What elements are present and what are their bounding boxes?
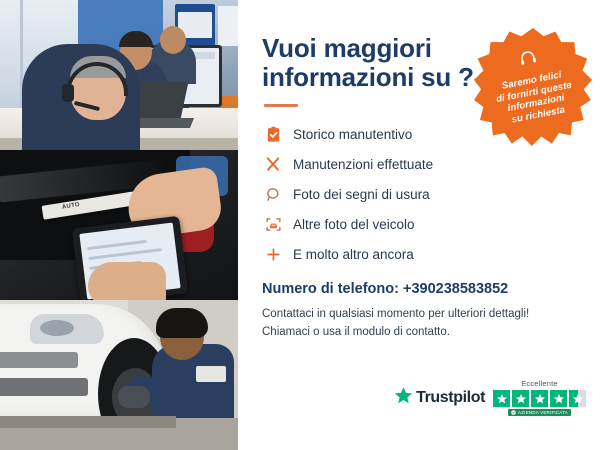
plus-icon [262,243,284,265]
trustpilot-rating-label: Eccellente [521,379,558,388]
trustpilot-logo: Trustpilot [394,386,485,410]
badge-text: Saremo felici di fornirti queste informa… [493,68,577,128]
verified-business-badge: AZIENDA VERIFICATA [508,409,571,416]
list-item-label: E molto altro ancora [293,247,414,262]
rating-star [550,390,567,407]
grille-lower-decor [0,378,88,396]
promo-banner: AUTO [0,0,600,450]
clipboard-check-icon [262,123,284,145]
verified-business-label: AZIENDA VERIFICATA [518,410,568,415]
headlight-decor [30,314,104,344]
strip-brand-text: AUTO [62,202,81,211]
headline-line-2: informazioni su ? [262,62,474,92]
wrench-tools-icon [262,153,284,175]
trustpilot-widget[interactable]: Trustpilot Eccellente [394,379,586,416]
list-item-label: Manutenzioni effettuate [293,157,433,172]
lift-arm-decor [0,416,176,428]
list-item-label: Foto dei segni di usura [293,187,430,202]
contact-subtext-line-2: Chiamaci o usa il modulo di contatto. [262,324,578,342]
car-scan-icon [262,213,284,235]
list-item: E molto altro ancora [262,241,578,267]
contact-subtext: Contattaci in qualsiasi momento per ulte… [262,306,578,342]
trustpilot-stars [493,390,586,407]
trustpilot-star-icon [394,386,413,410]
headline-line-1: Vuoi maggiori [262,33,432,63]
magnifier-icon [262,183,284,205]
tablet-line-decor [87,240,147,250]
photo-column: AUTO [0,0,238,450]
list-item: Altre foto del veicolo [262,211,578,237]
mechanic-glove-decor [118,386,150,408]
rating-star-partial [569,390,586,407]
badge-content: Saremo felici di fornirti queste informa… [464,18,600,156]
content-panel: Vuoi maggiori informazioni su ? Storico … [238,0,600,450]
verified-check-icon [511,410,516,415]
hand-lower-decor [88,262,166,300]
grille-upper-decor [0,352,78,368]
trustpilot-rating: Eccellente [493,379,586,416]
person-background-head-decor [160,26,186,54]
list-item-label: Altre foto del veicolo [293,217,415,232]
rating-star [512,390,529,407]
title-underline-divider [264,104,298,107]
contact-subtext-line-1: Contattaci in qualsiasi momento per ulte… [262,306,578,324]
list-item-label: Storico manutentivo [293,127,412,142]
tablet-line-decor [88,248,162,260]
list-item: Manutenzioni effettuate [262,151,578,177]
list-item: Foto dei segni di usura [262,181,578,207]
page-title: Vuoi maggiori informazioni su ? [262,34,482,92]
rating-star [493,390,510,407]
person-foreground-decor [22,44,140,150]
rating-star [531,390,548,407]
poster-side-decor [218,6,238,46]
uniform-badge-decor [196,366,226,382]
headset-icon [516,47,539,74]
trustpilot-name: Trustpilot [416,389,485,407]
callout-badge: Saremo felici di fornirti queste informa… [474,28,592,146]
photo-mechanic [0,300,238,450]
phone-number-label: Numero di telefono: +390238583852 [262,281,578,297]
photo-call-center [0,0,238,150]
headset-earcup-decor [62,84,74,102]
mechanic-hair-decor [156,308,208,338]
photo-inspection: AUTO [0,150,238,300]
